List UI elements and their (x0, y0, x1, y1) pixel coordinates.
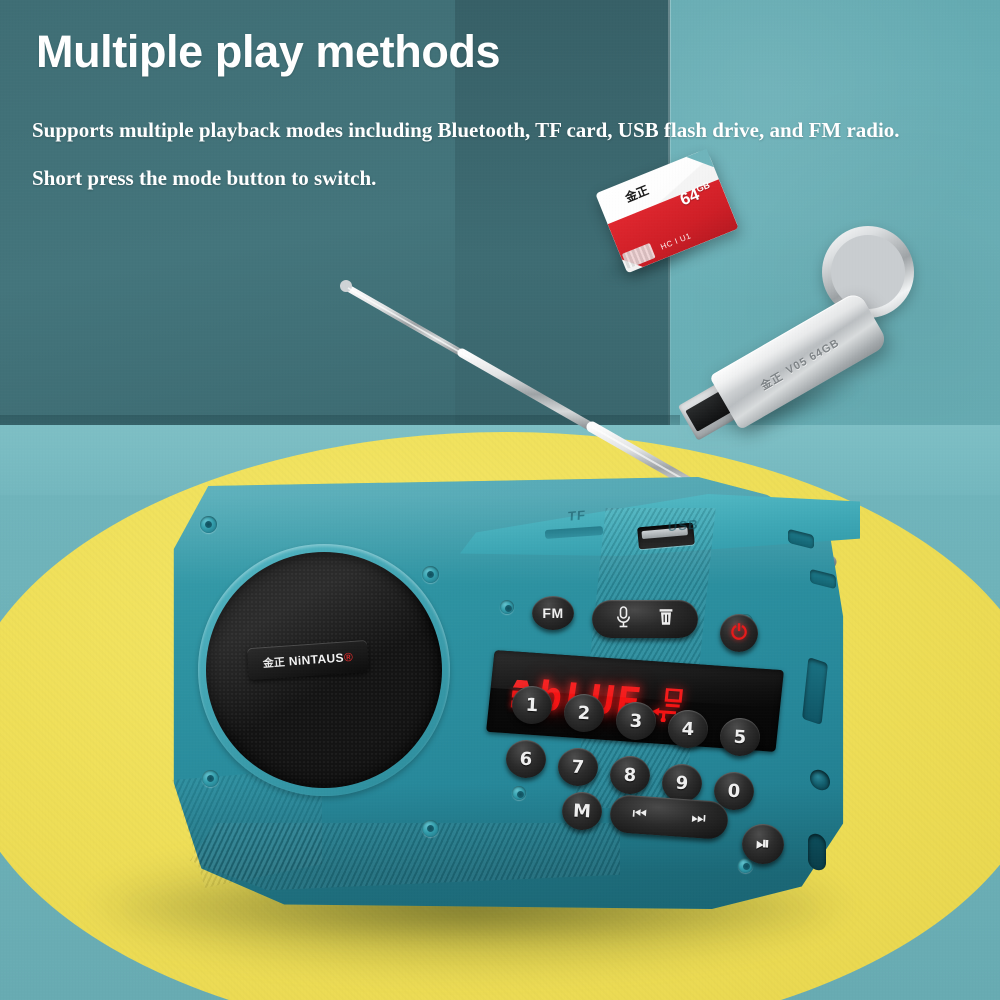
screw (202, 770, 219, 787)
usb-drive-body: 金正 V05 64GB (709, 290, 889, 430)
portable-radio-speaker: 金正 NiNTAUS® bLUE (160, 468, 850, 928)
screw (200, 516, 217, 533)
fm-button[interactable]: FM (532, 596, 574, 630)
brand-name-cn: 金正 (262, 654, 285, 671)
microphone-icon[interactable] (616, 606, 631, 632)
page-title: Multiple play methods (36, 26, 500, 78)
description-line-1: Supports multiple playback modes includi… (32, 118, 900, 143)
screw (422, 820, 439, 837)
usb-port-label: USB (667, 517, 699, 535)
type-c-port[interactable] (808, 832, 826, 872)
usb-flash-drive: 金正 V05 64GB (672, 228, 922, 423)
track-navigation-buttons[interactable]: ⏮ ⏭ (609, 794, 729, 840)
power-button[interactable]: ⏻ (720, 614, 758, 652)
trash-icon[interactable] (658, 607, 674, 631)
brand-name-en: NiNTAUS® (288, 650, 353, 668)
description-line-2: Short press the mode button to switch. (32, 166, 376, 191)
tf-slot-label: TF (568, 507, 587, 524)
mic-delete-button-pair[interactable] (592, 600, 698, 638)
next-track-button[interactable]: ⏭ (691, 810, 707, 829)
screw (500, 600, 514, 614)
previous-track-button[interactable]: ⏮ (632, 805, 648, 824)
screw (422, 566, 439, 583)
power-icon: ⏻ (731, 622, 747, 645)
usb-drive-engraving: 金正 V05 64GB (753, 307, 883, 401)
screw (512, 786, 526, 800)
product-image-stage: Multiple play methods Supports multiple … (0, 0, 1000, 1000)
tf-card-brand: 金正 (622, 181, 651, 206)
